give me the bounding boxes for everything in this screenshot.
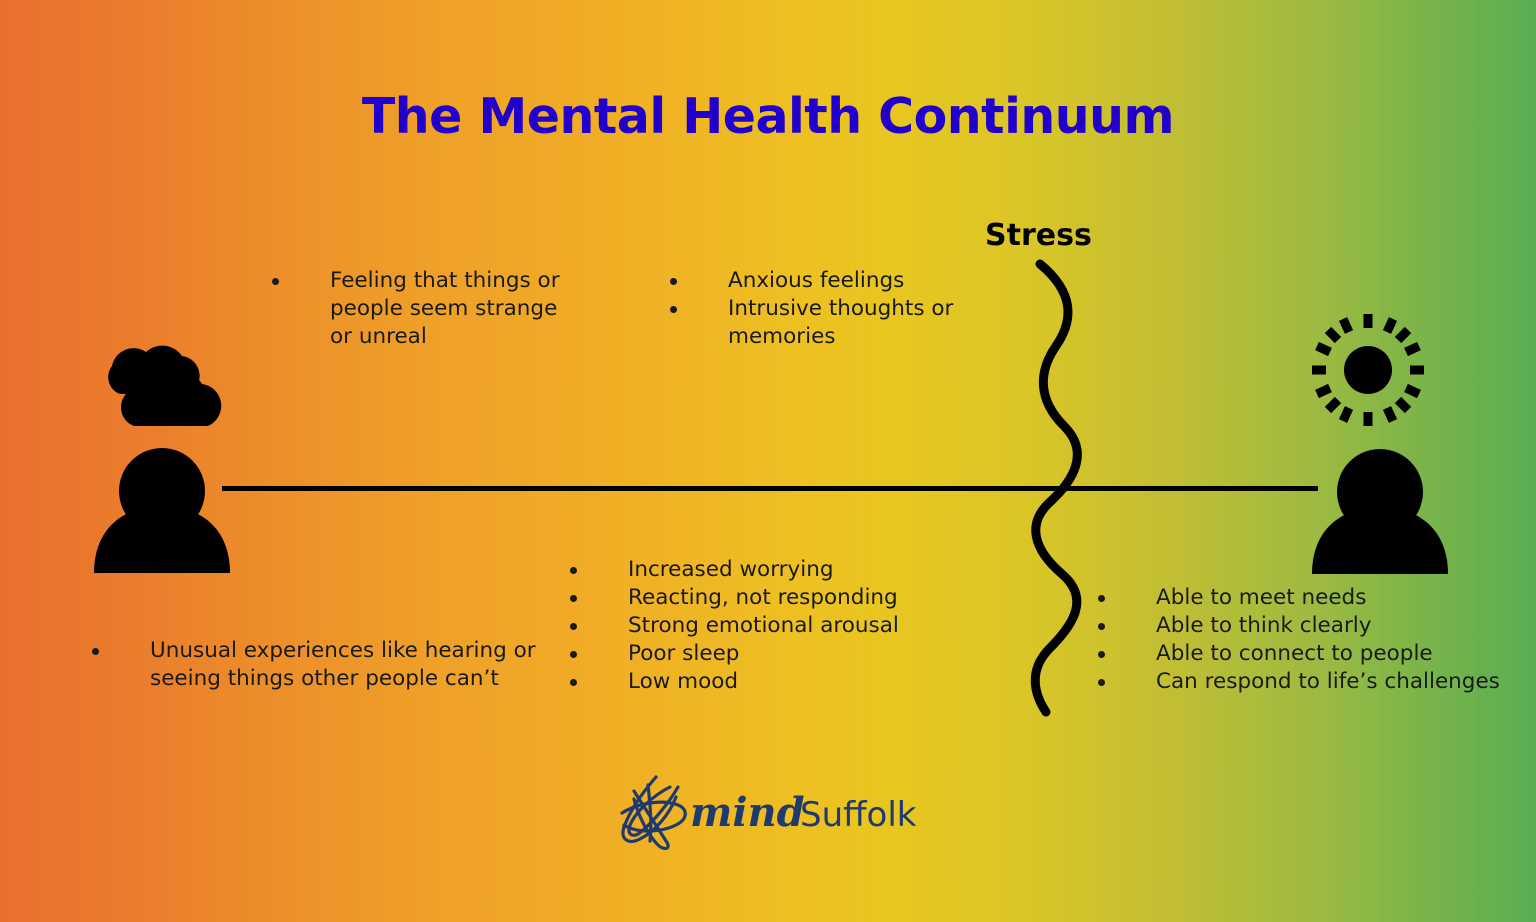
list-item-label: Low mood [628, 669, 738, 694]
list-item-label: Strong emotional arousal [628, 613, 899, 638]
bullet-dot-icon [1098, 623, 1105, 630]
bullet-dot-icon [570, 595, 577, 602]
list-item: Able to meet needs [1098, 584, 1518, 612]
list-item-label: Feeling that things or people seem stran… [330, 268, 560, 349]
logo-word-suffolk: Suffolk [800, 795, 917, 835]
bullet-dot-icon [670, 306, 677, 313]
bullet-dot-icon [1098, 651, 1105, 658]
continuum-axis-line [222, 486, 1318, 491]
list-item-label: Can respond to life’s challenges [1156, 669, 1500, 694]
mental-health-continuum-poster: The Mental Health Continuum Stress [0, 0, 1536, 922]
list-item: Low mood [570, 668, 950, 696]
wellbeing-signs-list: Able to meet needs Able to think clearly… [1098, 584, 1518, 696]
list-item: Feeling that things or people seem stran… [272, 267, 572, 351]
bullet-dot-icon [570, 651, 577, 658]
bullet-dot-icon [1098, 595, 1105, 602]
stress-squiggle-divider [1012, 258, 1102, 718]
stress-signs-list: Increased worrying Reacting, not respond… [570, 556, 950, 696]
list-item: Reacting, not responding [570, 584, 950, 612]
bullet-dot-icon [570, 567, 577, 574]
list-item: Intrusive thoughts or memories [670, 295, 1000, 351]
page-title: The Mental Health Continuum [0, 88, 1536, 145]
list-item: Increased worrying [570, 556, 950, 584]
unusual-experiences-list: Unusual experiences like hearing or seei… [92, 637, 562, 693]
list-item-label: Intrusive thoughts or memories [728, 296, 953, 349]
person-with-rain-clouds-icon [78, 328, 258, 573]
mind-scribble-star-icon [612, 773, 698, 851]
list-item-label: Able to think clearly [1156, 613, 1371, 638]
list-item: Strong emotional arousal [570, 612, 950, 640]
list-item-label: Reacting, not responding [628, 585, 898, 610]
logo-word-mind: mind [690, 789, 805, 836]
list-item: Able to connect to people [1098, 640, 1518, 668]
list-item: Can respond to life’s challenges [1098, 668, 1518, 696]
list-item-label: Poor sleep [628, 641, 739, 666]
list-item: Able to think clearly [1098, 612, 1518, 640]
bullet-dot-icon [272, 278, 279, 285]
list-item: Poor sleep [570, 640, 950, 668]
bullet-dot-icon [570, 623, 577, 630]
list-item-label: Unusual experiences like hearing or seei… [150, 638, 536, 691]
list-item-label: Able to meet needs [1156, 585, 1366, 610]
list-item-label: Increased worrying [628, 557, 833, 582]
bullet-dot-icon [570, 679, 577, 686]
list-item-label: Able to connect to people [1156, 641, 1433, 666]
stress-axis-label: Stress [985, 218, 1092, 253]
mind-suffolk-wordmark: mind Suffolk [690, 784, 930, 840]
bullet-dot-icon [1098, 679, 1105, 686]
mind-suffolk-logo: mind Suffolk [612, 772, 932, 852]
bullet-dot-icon [92, 648, 99, 655]
anxiety-symptoms-list: Anxious feelings Intrusive thoughts or m… [670, 267, 1000, 351]
person-with-sun-icon [1296, 312, 1476, 574]
derealisation-symptoms-list: Feeling that things or people seem stran… [272, 267, 572, 351]
list-item-label: Anxious feelings [728, 268, 904, 293]
bullet-dot-icon [670, 278, 677, 285]
list-item: Anxious feelings [670, 267, 1000, 295]
list-item: Unusual experiences like hearing or seei… [92, 637, 562, 693]
